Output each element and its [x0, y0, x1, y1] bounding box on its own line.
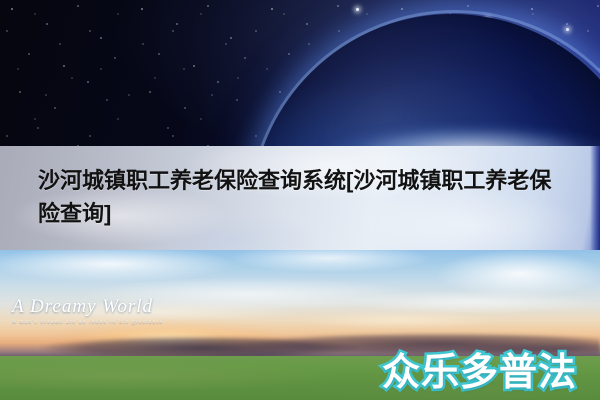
watermark-brand-logo: 众乐多普法: [382, 352, 577, 394]
watermark-dreamy-title: A Dreamy World: [12, 296, 212, 318]
page-title: 沙河城镇职工养老保险查询系统[沙河城镇职工养老保险查询]: [38, 164, 568, 230]
watermark-dreamy-world: A Dreamy World A man's dreams are an ind…: [12, 296, 212, 325]
thumbnail-image-card: 沙河城镇职工养老保险查询系统[沙河城镇职工养老保险查询] A Dreamy Wo…: [0, 0, 600, 400]
banner-right-edge: [590, 146, 600, 250]
horizon-glow: [300, 96, 600, 146]
watermark-dreamy-tagline: A man's dreams are an index to his great…: [12, 320, 212, 325]
space-background-image: [0, 0, 600, 146]
bright-star-icon: [356, 8, 359, 11]
title-banner: 沙河城镇职工养老保险查询系统[沙河城镇职工养老保险查询]: [0, 146, 600, 250]
bright-star-icon: [566, 28, 569, 31]
